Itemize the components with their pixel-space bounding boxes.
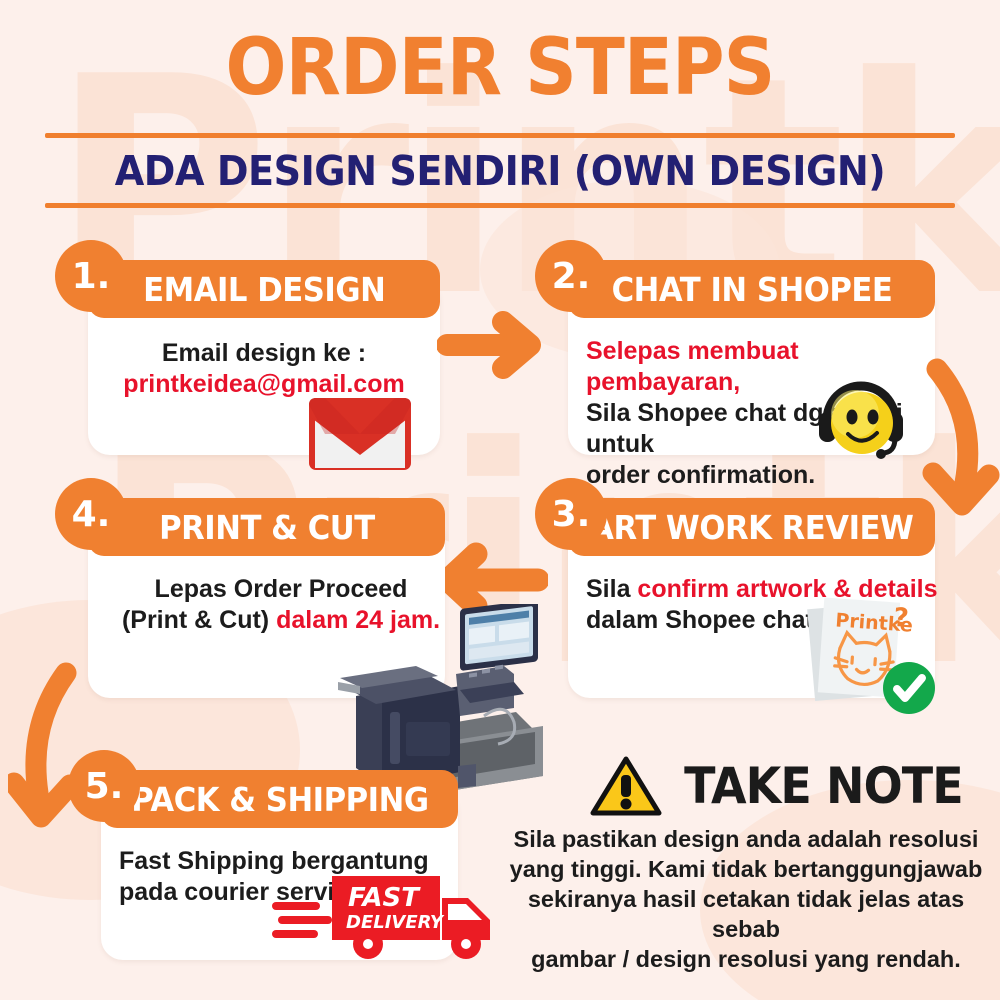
step-2-title: CHAT IN SHOPEE <box>611 270 892 309</box>
take-note-line-1: Sila pastikan design anda adalah resolus… <box>498 824 994 854</box>
step-5-number-badge: 5. <box>68 750 140 822</box>
step-4-line-1: Lepas Order Proceed <box>106 574 456 605</box>
divider-top <box>45 133 955 138</box>
truck-label-fast: FAST <box>348 883 421 913</box>
step-5-number: 5. <box>85 766 124 807</box>
step-1-number: 1. <box>72 256 111 297</box>
step-1-line-1: Email design ke : <box>106 338 422 369</box>
divider-bottom <box>45 203 955 208</box>
take-note-title: TAKE NOTE <box>684 757 963 815</box>
step-card-1[interactable]: EMAIL DESIGN 1. Email design ke : printk… <box>55 240 440 455</box>
step-5-header-bar: PACK & SHIPPING <box>101 770 458 828</box>
step-3-number: 3. <box>552 494 591 535</box>
infographic-canvas: Printke? Printke? ORDER STEPS ADA DESIGN… <box>0 0 1000 1000</box>
step-2-number-badge: 2. <box>535 240 607 312</box>
fast-delivery-truck-icon: FAST DELIVERY <box>272 868 507 963</box>
step-5-title: PACK & SHIPPING <box>131 780 428 819</box>
page-subtitle: ADA DESIGN SENDIRI (OWN DESIGN) <box>35 143 965 199</box>
svg-text:?: ? <box>893 603 910 634</box>
step-1-number-badge: 1. <box>55 240 127 312</box>
artwork-sheet-check-icon: Printke ? <box>805 588 940 718</box>
take-note-line-3: sekiranya hasil cetakan tidak jelas atas… <box>498 884 994 944</box>
step-4-number: 4. <box>72 494 111 535</box>
take-note-line-2: yang tinggi. Kami tidak bertanggungjawab <box>498 854 994 884</box>
step-4-title: PRINT & CUT <box>159 508 375 547</box>
step-card-3[interactable]: ART WORK REVIEW 3. Sila confirm artwork … <box>535 478 935 698</box>
step-4-number-badge: 4. <box>55 478 127 550</box>
take-note-header: TAKE NOTE <box>590 755 975 817</box>
step-2-number: 2. <box>552 256 591 297</box>
step-2-header-bar: CHAT IN SHOPEE <box>568 260 935 318</box>
gmail-envelope-icon <box>305 390 415 475</box>
step-1-header-bar: EMAIL DESIGN <box>88 260 440 318</box>
warning-triangle-icon <box>590 755 662 817</box>
take-note-line-4: gambar / design resolusi yang rendah. <box>498 944 994 974</box>
step-4-line-2a: (Print & Cut) <box>122 606 276 634</box>
step-card-2[interactable]: CHAT IN SHOPEE 2. Selepas membuat pembay… <box>535 240 935 455</box>
truck-label-delivery: DELIVERY <box>346 912 445 933</box>
take-note-body: Sila pastikan design anda adalah resolus… <box>498 824 994 974</box>
step-1-title: EMAIL DESIGN <box>143 270 385 309</box>
step-4-header-bar: PRINT & CUT <box>88 498 445 556</box>
step-3-line-1a: Sila <box>586 575 637 603</box>
step-3-header-bar: ART WORK REVIEW <box>568 498 935 556</box>
smiley-headset-icon <box>815 368 910 460</box>
step-3-title: ART WORK REVIEW <box>590 508 913 547</box>
page-title: ORDER STEPS <box>40 28 960 108</box>
